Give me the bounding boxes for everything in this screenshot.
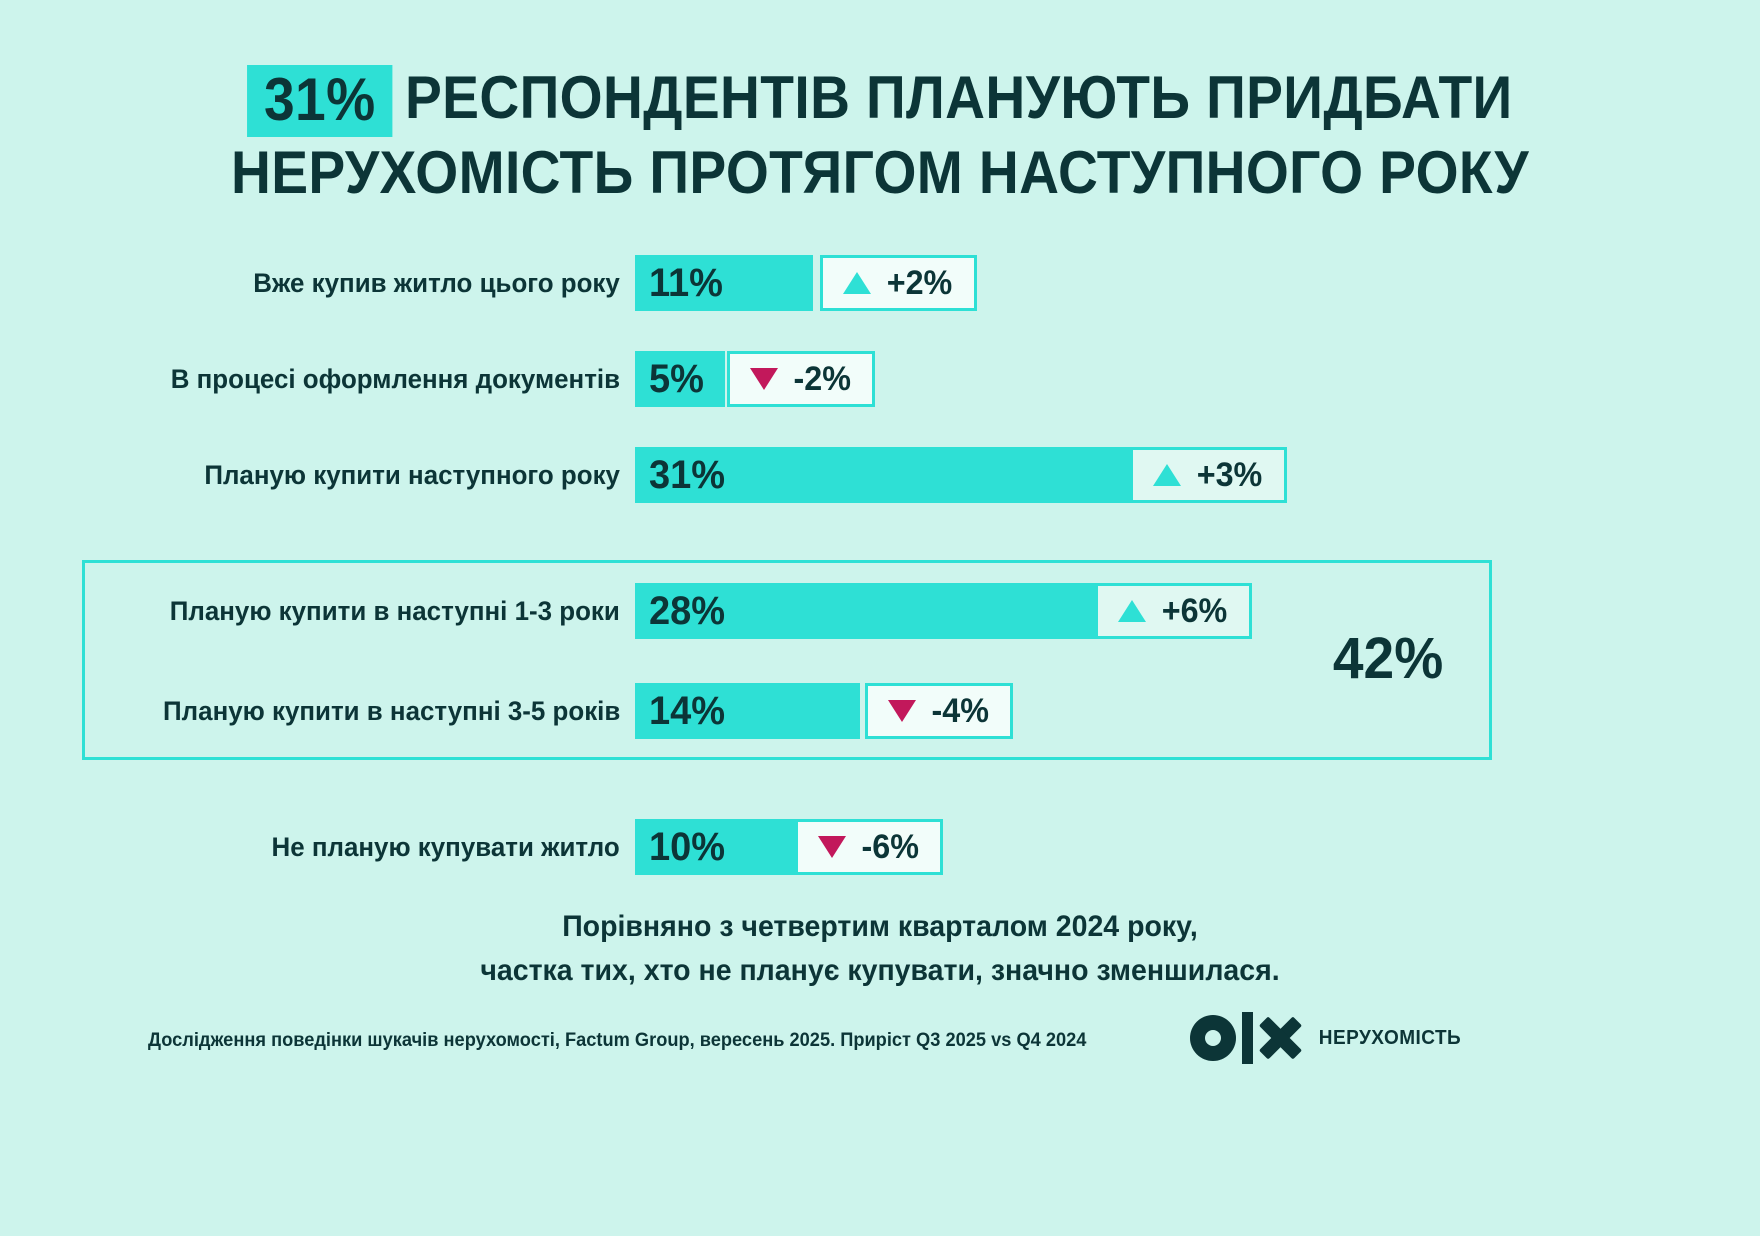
row-label: Планую купити наступного року — [204, 447, 620, 503]
delta-value: -2% — [794, 360, 851, 399]
chart-row: Планую купити наступного року 31% +3% — [0, 447, 1760, 503]
row-value: 31% — [649, 447, 725, 503]
delta-value: -4% — [932, 692, 989, 731]
row-value: 10% — [649, 819, 725, 875]
delta-badge: +3% — [1130, 447, 1287, 503]
row-bar: 28% — [635, 583, 1105, 639]
row-value: 11% — [649, 255, 723, 311]
delta-value: +2% — [887, 264, 953, 303]
caption-line-2: частка тих, хто не планує купувати, знач… — [44, 949, 1716, 993]
row-value: 28% — [649, 583, 725, 639]
row-bar: 31% — [635, 447, 1143, 503]
title-line-2: НЕРУХОМІСТЬ ПРОТЯГОМ НАСТУПНОГО РОКУ — [208, 137, 1551, 209]
chart-row: Планую купити в наступні 3-5 років 14% -… — [0, 683, 1760, 739]
caption-line-1: Порівняно з четвертим кварталом 2024 рок… — [44, 905, 1716, 949]
row-bar: 11% — [635, 255, 813, 311]
delta-badge: +2% — [820, 255, 977, 311]
logo-bar-icon — [1242, 1012, 1253, 1064]
row-bar: 5% — [635, 351, 725, 407]
title-text-1: РЕСПОНДЕНТІВ ПЛАНУЮТЬ ПРИДБАТИ — [405, 64, 1513, 131]
arrow-up-icon — [1118, 600, 1146, 622]
row-label: В процесі оформлення документів — [171, 351, 620, 407]
summary-caption: Порівняно з четвертим кварталом 2024 рок… — [0, 905, 1760, 993]
delta-value: -6% — [862, 828, 919, 867]
row-label: Планую купити в наступні 1-3 роки — [170, 583, 620, 639]
olx-logo: НЕРУХОМІСТЬ — [1190, 1012, 1465, 1064]
logo-label: НЕРУХОМІСТЬ — [1319, 1027, 1461, 1050]
arrow-down-icon — [818, 836, 846, 858]
delta-badge: +6% — [1095, 583, 1252, 639]
title-line-1: 31%РЕСПОНДЕНТІВ ПЛАНУЮТЬ ПРИДБАТИ — [208, 62, 1551, 137]
row-value: 5% — [649, 351, 704, 407]
row-label: Не планую купувати житло — [272, 819, 620, 875]
arrow-up-icon — [1153, 464, 1181, 486]
row-value: 14% — [649, 683, 725, 739]
logo-x-icon — [1259, 1018, 1301, 1058]
chart-row: Планую купити в наступні 1-3 роки 28% +6… — [0, 583, 1760, 639]
title-highlight-chip: 31% — [247, 65, 392, 137]
chart-row: Не планую купувати житло 10% -6% — [0, 819, 1760, 875]
delta-value: +3% — [1197, 456, 1263, 495]
delta-badge: -2% — [727, 351, 875, 407]
infographic-page: 31%РЕСПОНДЕНТІВ ПЛАНУЮТЬ ПРИДБАТИ НЕРУХО… — [0, 0, 1760, 1236]
chart-row: Вже купив житло цього року 11% +2% — [0, 255, 1760, 311]
delta-badge: -6% — [795, 819, 943, 875]
source-note: Дослідження поведінки шукачів нерухомост… — [148, 1030, 1086, 1052]
arrow-down-icon — [750, 368, 778, 390]
row-bar: 10% — [635, 819, 798, 875]
bar-chart: Вже купив житло цього року 11% +2% В про… — [0, 255, 1760, 875]
delta-badge: -4% — [865, 683, 1013, 739]
delta-value: +6% — [1162, 592, 1228, 631]
chart-row: В процесі оформлення документів 5% -2% — [0, 351, 1760, 407]
logo-o-icon — [1190, 1015, 1236, 1061]
olx-logo-mark — [1190, 1012, 1301, 1064]
arrow-up-icon — [843, 272, 871, 294]
arrow-down-icon — [888, 700, 916, 722]
row-label: Планую купити в наступні 3-5 років — [163, 683, 620, 739]
page-title: 31%РЕСПОНДЕНТІВ ПЛАНУЮТЬ ПРИДБАТИ НЕРУХО… — [0, 62, 1760, 209]
row-bar: 14% — [635, 683, 860, 739]
row-label: Вже купив житло цього року — [253, 255, 620, 311]
